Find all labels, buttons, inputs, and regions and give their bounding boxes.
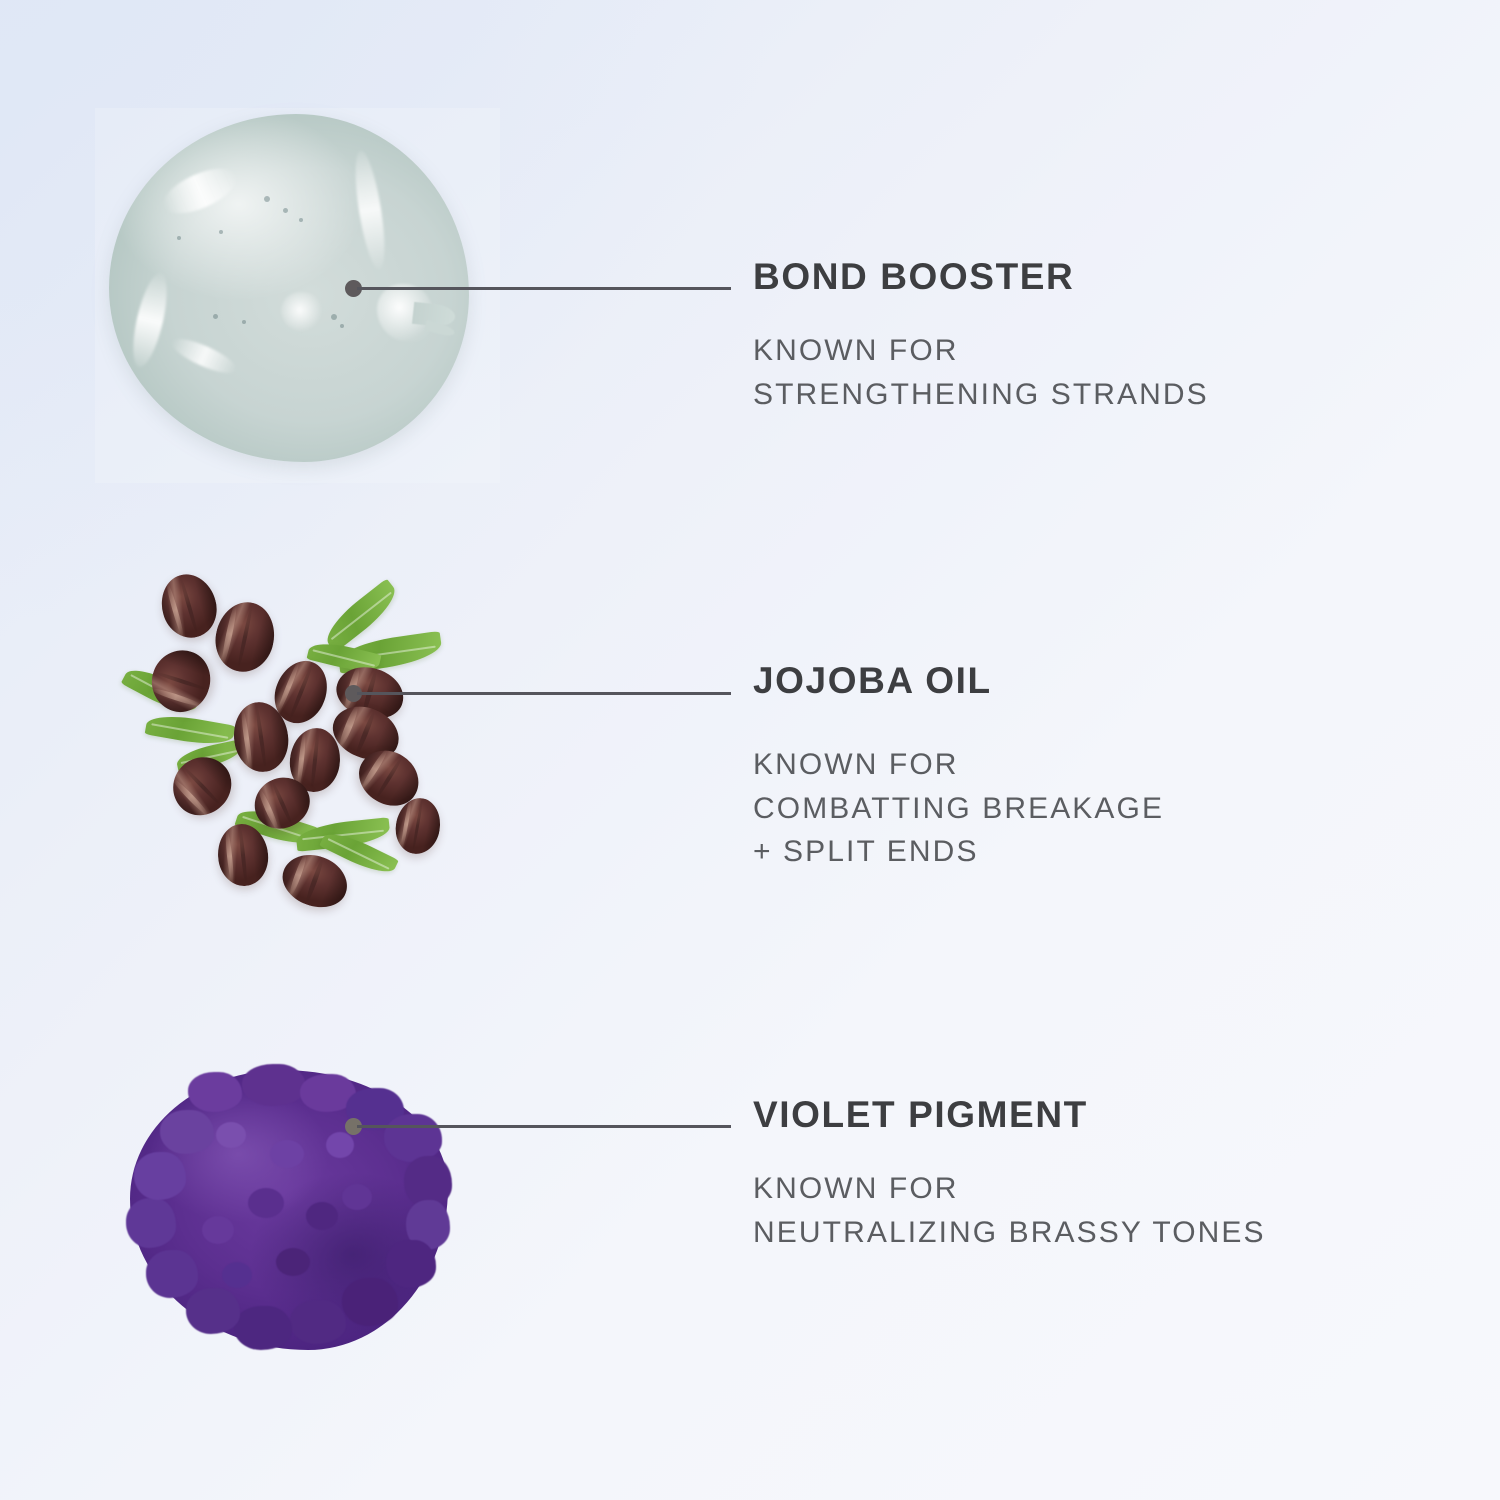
- gel-bubble: [177, 236, 181, 240]
- powder-clump: [126, 1198, 176, 1248]
- ingredient-infographic: BOND BOOSTER KNOWN FOR STRENGTHENING STR…: [0, 0, 1500, 1500]
- powder-clump: [384, 1114, 442, 1162]
- ingredient-row-violet-pigment: VIOLET PIGMENT KNOWN FOR NEUTRALIZING BR…: [0, 1050, 1500, 1390]
- powder-grain: [306, 1202, 338, 1230]
- callout-line: [357, 1125, 731, 1128]
- powder-grain: [216, 1122, 246, 1148]
- powder-clump: [386, 1240, 436, 1288]
- jojoba-seed: [209, 597, 280, 678]
- gel-bubble: [299, 218, 303, 222]
- gel-bubble: [340, 324, 344, 328]
- powder-clump: [342, 1278, 398, 1326]
- powder-clump: [146, 1250, 198, 1298]
- violet-pigment-powder-photo: [130, 1070, 460, 1370]
- gel-highlight: [127, 270, 174, 369]
- powder-clump: [186, 1288, 240, 1334]
- callout-line: [357, 692, 731, 695]
- powder-clump: [160, 1110, 214, 1154]
- description-line: COMBATTING BREAKAGE: [753, 787, 1164, 831]
- powder-clump: [234, 1306, 292, 1350]
- gel-bubble: [264, 196, 270, 202]
- powder-clump: [134, 1152, 186, 1200]
- ingredient-description: KNOWN FOR NEUTRALIZING BRASSY TONES: [753, 1167, 1266, 1254]
- powder-grain: [326, 1132, 354, 1158]
- gel-highlight: [168, 333, 240, 380]
- powder-grain: [276, 1248, 310, 1276]
- gel-bubble: [219, 230, 223, 234]
- ingredient-description: KNOWN FOR COMBATTING BREAKAGE + SPLIT EN…: [753, 743, 1164, 874]
- gel-bubble: [242, 320, 246, 324]
- jojoba-seed: [154, 568, 224, 644]
- description-line: KNOWN FOR: [753, 1167, 1266, 1211]
- powder-grain: [222, 1262, 252, 1288]
- gel-bubble: [283, 208, 288, 213]
- gel-highlight: [350, 149, 391, 271]
- ingredient-description: KNOWN FOR STRENGTHENING STRANDS: [753, 329, 1209, 416]
- powder-grain: [202, 1216, 234, 1244]
- description-line: KNOWN FOR: [753, 743, 1164, 787]
- ingredient-title: BOND BOOSTER: [753, 258, 1209, 295]
- powder-grain: [342, 1184, 372, 1210]
- description-line: STRENGTHENING STRANDS: [753, 373, 1209, 417]
- description-line: + SPLIT ENDS: [753, 830, 1164, 874]
- ingredient-title: VIOLET PIGMENT: [753, 1096, 1266, 1133]
- powder-clump: [290, 1300, 346, 1344]
- ingredient-row-jojoba-oil: JOJOBA OIL KNOWN FOR COMBATTING BREAKAGE…: [0, 540, 1500, 960]
- jojoba-seed: [144, 643, 218, 720]
- powder-clump: [188, 1072, 242, 1112]
- description-line: KNOWN FOR: [753, 329, 1209, 373]
- powder-clump: [242, 1064, 306, 1106]
- description-line: NEUTRALIZING BRASSY TONES: [753, 1211, 1266, 1255]
- powder-grain: [248, 1188, 284, 1218]
- gel-bubble: [213, 314, 218, 319]
- gel-highlight: [281, 292, 323, 332]
- mint-gel-swatch-photo: [95, 108, 500, 483]
- gel-bubble: [331, 314, 337, 320]
- ingredient-text-violet-pigment: VIOLET PIGMENT KNOWN FOR NEUTRALIZING BR…: [753, 1096, 1266, 1254]
- ingredient-row-bond-booster: BOND BOOSTER KNOWN FOR STRENGTHENING STR…: [0, 90, 1500, 490]
- callout-line: [357, 287, 731, 290]
- ingredient-title: JOJOBA OIL: [753, 662, 1164, 699]
- powder-grain: [270, 1140, 304, 1168]
- ingredient-text-bond-booster: BOND BOOSTER KNOWN FOR STRENGTHENING STR…: [753, 258, 1209, 416]
- jojoba-seeds-photo: [120, 560, 480, 940]
- ingredient-text-jojoba-oil: JOJOBA OIL KNOWN FOR COMBATTING BREAKAGE…: [753, 662, 1164, 874]
- gel-highlight: [157, 160, 242, 223]
